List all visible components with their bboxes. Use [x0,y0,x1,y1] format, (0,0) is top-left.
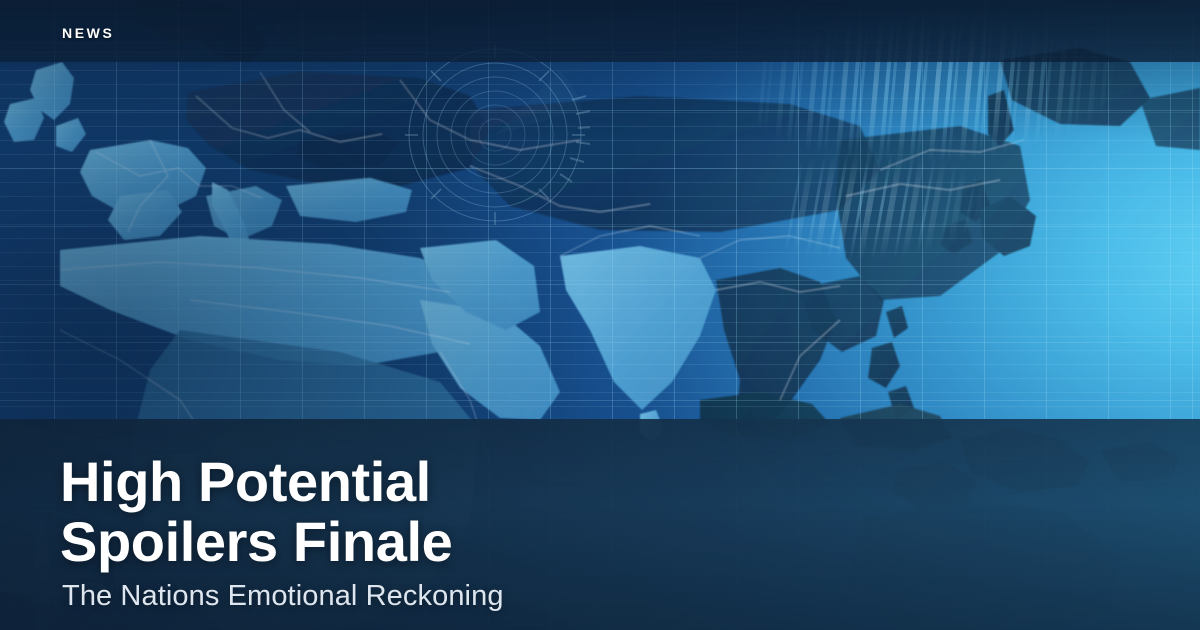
subheadline: The Nations Emotional Reckoning [62,578,504,614]
headline-line-2: Spoilers Finale [60,512,1060,572]
data-stream-texture-secondary [778,150,1103,290]
radar-dial-icon [400,40,590,230]
headline-line-1: High Potential [60,450,431,513]
news-share-card: W E NEWS High Potential Spoilers Finale … [0,0,1200,630]
headline: High Potential Spoilers Finale [60,452,1060,572]
top-overlay-band [0,0,1200,62]
category-kicker: NEWS [62,24,114,42]
